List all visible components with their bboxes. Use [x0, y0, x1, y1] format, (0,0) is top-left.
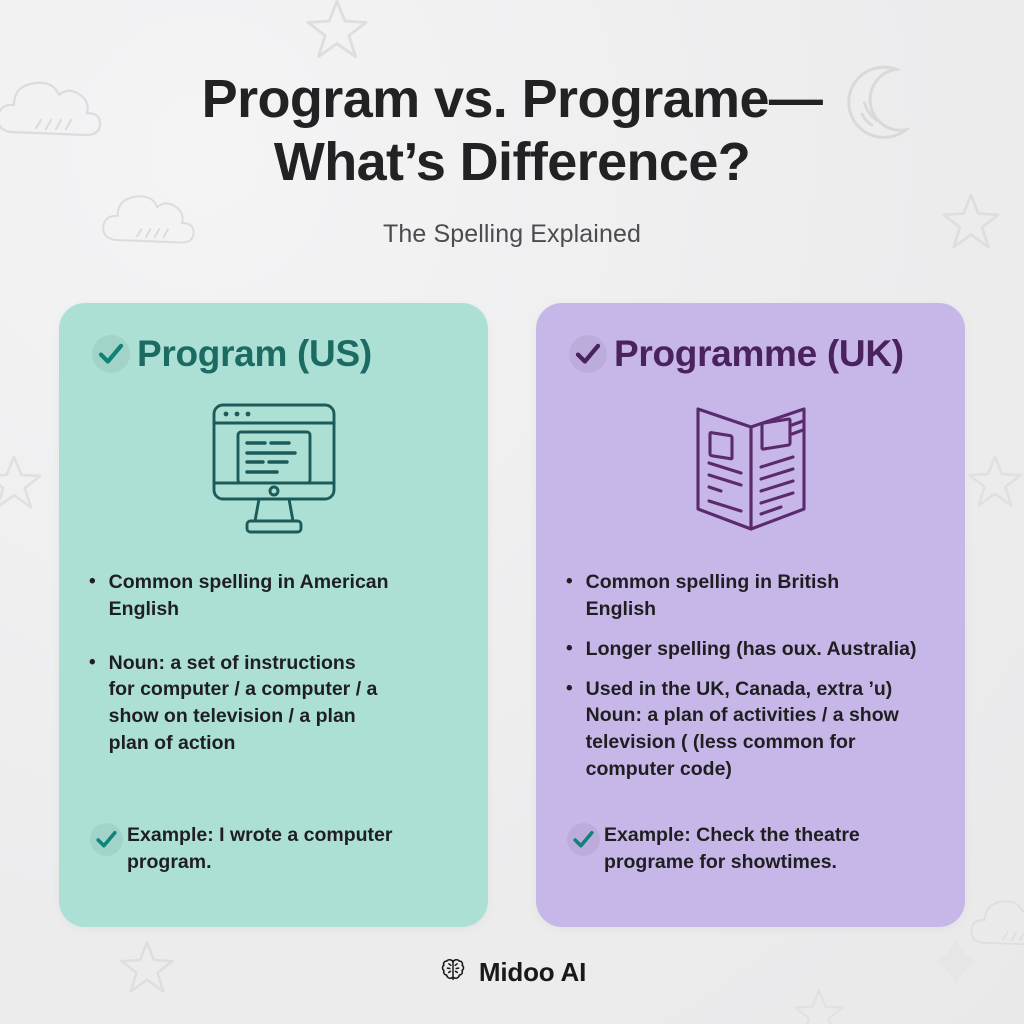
bullet-text: Used in the UK, Canada, extra ’u) Noun: …	[586, 676, 899, 783]
bullet-dot: •	[566, 676, 573, 783]
example-text: Example: Check the theatre programe for …	[604, 822, 860, 875]
header: Program vs. Programe—What’s Difference? …	[0, 0, 1024, 249]
card-program-us: Program (US)	[59, 303, 488, 927]
check-icon	[89, 823, 123, 857]
card-us-header: Program (US)	[91, 333, 458, 375]
page-title: Program vs. Programe—What’s Difference?	[0, 68, 1024, 194]
infographic-page: Program vs. Programe—What’s Difference? …	[0, 0, 1024, 1024]
check-icon	[91, 334, 131, 374]
card-uk-bullets: • Common spelling in British English • L…	[566, 569, 935, 782]
list-item: • Longer spelling (has oux. Australia)	[566, 636, 931, 663]
example-text: Example: I wrote a computer program.	[127, 822, 393, 875]
bullet-text: Common spelling in British English	[586, 569, 840, 622]
star-doodle	[792, 986, 846, 1024]
bullet-dot: •	[566, 636, 573, 663]
check-icon	[568, 334, 608, 374]
computer-monitor-icon	[89, 393, 458, 545]
card-us-bullets: • Common spelling in American English • …	[89, 569, 458, 756]
card-us-example: Example: I wrote a computer program.	[89, 822, 462, 875]
check-icon	[566, 823, 600, 857]
card-programme-uk: Programme (UK) • Common spelling in Brit…	[536, 303, 965, 927]
brand-name: Midoo AI	[479, 957, 586, 988]
bullet-text: Longer spelling (has oux. Australia)	[586, 636, 917, 663]
list-item: • Noun: a set of instructions for comput…	[89, 650, 454, 757]
bullet-dot: •	[89, 650, 96, 757]
bullet-dot: •	[566, 569, 573, 622]
comparison-cards: Program (US)	[0, 303, 1024, 927]
bullet-text: Noun: a set of instructions for computer…	[109, 650, 378, 757]
card-us-title: Program (US)	[137, 333, 372, 375]
card-uk-title: Programme (UK)	[614, 333, 904, 375]
list-item: • Common spelling in American English	[89, 569, 454, 622]
brain-icon	[438, 955, 468, 990]
bullet-text: Common spelling in American English	[109, 569, 389, 622]
card-uk-header: Programme (UK)	[568, 333, 935, 375]
card-uk-example: Example: Check the theatre programe for …	[566, 822, 939, 875]
list-item: • Common spelling in British English	[566, 569, 931, 622]
list-item: • Used in the UK, Canada, extra ’u) Noun…	[566, 676, 931, 783]
bullet-dot: •	[89, 569, 96, 622]
page-subtitle: The Spelling Explained	[0, 220, 1024, 249]
open-booklet-icon	[566, 393, 935, 545]
footer-brand: Midoo AI	[0, 955, 1024, 990]
